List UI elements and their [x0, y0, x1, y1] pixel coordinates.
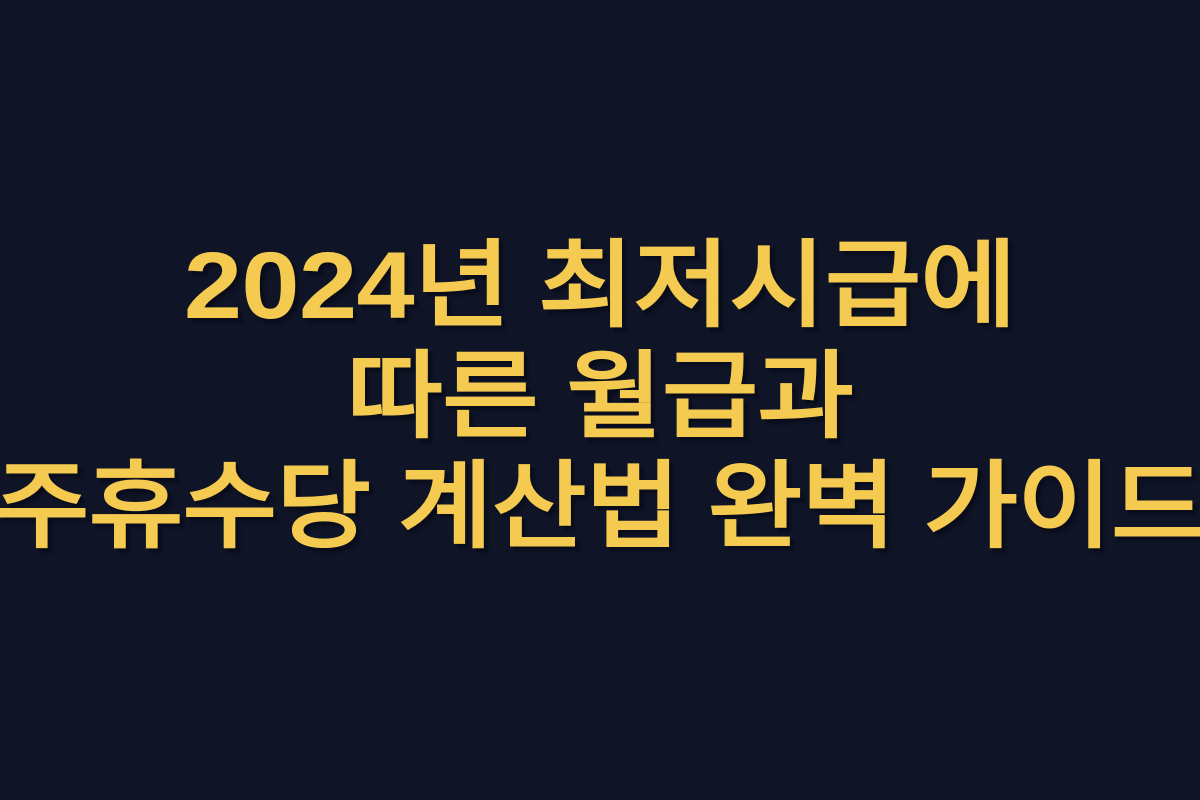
banner-title: 2024년 최저시급에 따른 월급과 주휴수당 계산법 완벽 가이드 [0, 231, 1200, 563]
banner-title-line-3: 주휴수당 계산법 완벽 가이드 [0, 452, 1200, 563]
banner-title-line-1: 2024년 최저시급에 [0, 231, 1200, 342]
banner-title-line-2: 따른 월급과 [0, 342, 1200, 453]
thumbnail-banner: 2024년 최저시급에 따른 월급과 주휴수당 계산법 완벽 가이드 [0, 0, 1200, 800]
